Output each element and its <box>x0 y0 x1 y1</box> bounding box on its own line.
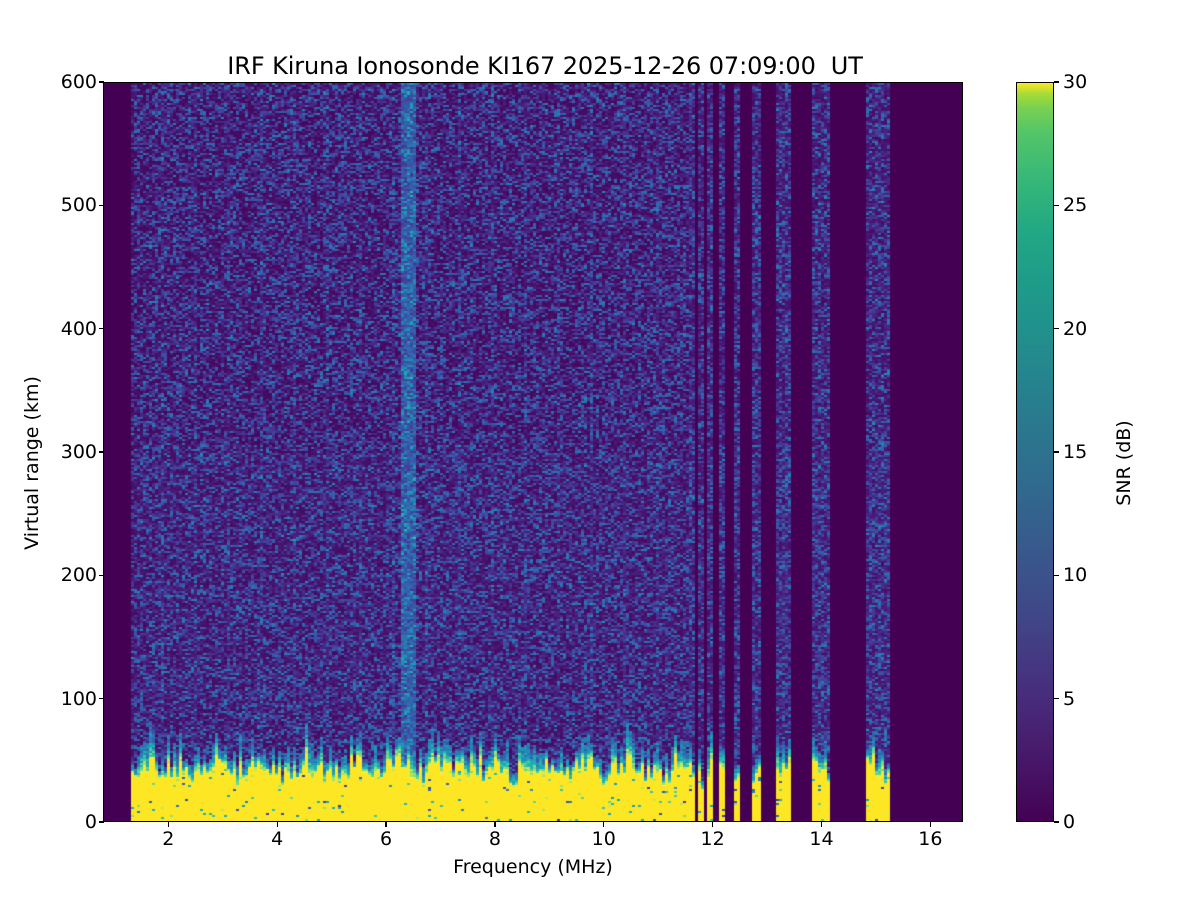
colorbar-tick-mark <box>1054 821 1059 822</box>
x-axis-tick-mark <box>603 822 604 827</box>
y-axis-tick-mark <box>99 698 104 699</box>
colorbar-tick-mark <box>1054 205 1059 206</box>
colorbar <box>1016 82 1054 822</box>
x-axis-tick-label: 14 <box>791 828 851 850</box>
y-axis-tick-label: 300 <box>61 443 97 462</box>
colorbar-tick-label: 5 <box>1063 690 1075 709</box>
x-axis-tick-mark <box>168 822 169 827</box>
colorbar-tick-label: 30 <box>1063 73 1087 92</box>
colorbar-tick-label: 0 <box>1063 813 1075 832</box>
y-axis-label: Virtual range (km) <box>21 353 43 573</box>
colorbar-tick-mark <box>1054 328 1059 329</box>
y-axis-tick-mark <box>99 205 104 206</box>
y-axis-tick-label: 400 <box>61 320 97 339</box>
x-axis-tick-label: 10 <box>574 828 634 850</box>
colorbar-tick-mark <box>1054 698 1059 699</box>
colorbar-tick-label: 20 <box>1063 320 1087 339</box>
x-axis-tick-label: 2 <box>138 828 198 850</box>
colorbar-label: SNR (dB) <box>1113 353 1135 573</box>
ionogram-figure: IRF Kiruna Ionosonde KI167 2025-12-26 07… <box>0 0 1200 900</box>
y-axis-tick-mark <box>99 821 104 822</box>
y-axis-tick-label: 500 <box>61 196 97 215</box>
x-axis-tick-mark <box>277 822 278 827</box>
colorbar-tick-label: 10 <box>1063 566 1087 585</box>
x-axis-label: Frequency (MHz) <box>103 856 963 878</box>
colorbar-tick-mark <box>1054 575 1059 576</box>
y-axis-tick-mark <box>99 81 104 82</box>
x-axis-tick-mark <box>712 822 713 827</box>
x-axis-tick-mark <box>385 822 386 827</box>
x-axis-tick-label: 8 <box>465 828 525 850</box>
colorbar-tick-label: 25 <box>1063 196 1087 215</box>
y-axis-tick-mark <box>99 575 104 576</box>
colorbar-tick-label: 15 <box>1063 443 1087 462</box>
x-axis-tick-label: 6 <box>356 828 416 850</box>
x-axis-tick-label: 12 <box>683 828 743 850</box>
x-axis-tick-mark <box>821 822 822 827</box>
ionogram-heatmap-canvas <box>104 83 962 821</box>
x-axis-tick-mark <box>494 822 495 827</box>
y-axis-tick-label: 0 <box>85 813 97 832</box>
x-axis-tick-mark <box>930 822 931 827</box>
title-line-1: IRF Kiruna Ionosonde KI167 2025-12-26 07… <box>227 52 863 80</box>
ionogram-plot-area <box>103 82 963 822</box>
y-axis-tick-mark <box>99 328 104 329</box>
x-axis-tick-label: 4 <box>247 828 307 850</box>
y-axis-tick-label: 600 <box>61 73 97 92</box>
y-axis-tick-mark <box>99 451 104 452</box>
x-axis-tick-label: 16 <box>900 828 960 850</box>
y-axis-tick-label: 200 <box>61 566 97 585</box>
colorbar-tick-mark <box>1054 81 1059 82</box>
colorbar-tick-mark <box>1054 451 1059 452</box>
y-axis-tick-label: 100 <box>61 690 97 709</box>
